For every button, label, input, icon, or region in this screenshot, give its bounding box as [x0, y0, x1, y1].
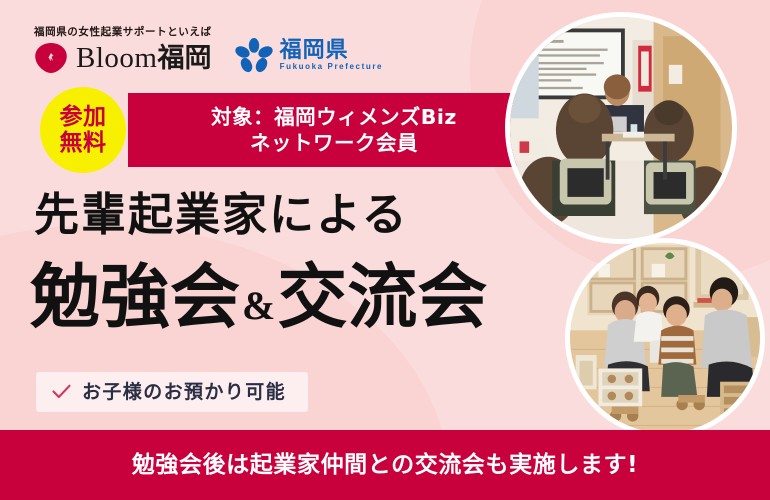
seminar-photo-illustration	[510, 17, 732, 239]
childcare-label: お子様のお預かり可能	[82, 383, 286, 402]
free-badge-line-1: 参加	[60, 105, 107, 129]
target-line-1: 対象：福岡ウィメンズBiz	[211, 104, 457, 130]
prefecture-name-jp: 福岡県	[280, 40, 349, 62]
headline-main: 勉強会 & 交流会	[30, 262, 487, 332]
footer-bar: 勉強会後は起業家仲間との交流会も実施します!	[0, 430, 770, 500]
free-badge-line-2: 無料	[60, 131, 107, 155]
target-line-2: ネットワーク会員	[211, 130, 457, 156]
target-audience-bar: 対象：福岡ウィメンズBiz ネットワーク会員	[128, 93, 540, 167]
prefecture-text: 福岡県 Fukuoka Prefecture	[280, 40, 384, 71]
fukuoka-flower-mark-icon	[234, 37, 274, 73]
headline-main-part-1: 勉強会	[30, 262, 240, 332]
target-audience-text: 対象：福岡ウィメンズBiz ネットワーク会員	[211, 104, 457, 156]
seminar-photo	[505, 12, 737, 244]
free-participation-badge: 参加 無料	[40, 87, 126, 173]
bloom-wordmark: Bloom福岡	[76, 44, 211, 73]
bloom-logo: 福岡県の女性起業サポートといえば Bloom福岡	[34, 24, 212, 74]
plum-blossom-icon	[34, 42, 68, 74]
headline-main-part-2: 交流会	[277, 262, 487, 332]
childcare-photo-illustration	[570, 243, 760, 433]
footer-message: 勉強会後は起業家仲間との交流会も実施します!	[132, 454, 638, 477]
logo-row: 福岡県の女性起業サポートといえば Bloom福岡	[34, 24, 383, 74]
childcare-photo	[565, 238, 765, 438]
event-banner: 福岡県の女性起業サポートといえば Bloom福岡	[0, 0, 770, 500]
bloom-tagline: 福岡県の女性起業サポートといえば	[34, 24, 212, 39]
fukuoka-prefecture-logo: 福岡県 Fukuoka Prefecture	[234, 37, 384, 74]
bloom-name-jp: 福岡	[157, 43, 211, 74]
headline-ampersand: &	[240, 286, 277, 326]
check-icon	[52, 384, 71, 400]
bloom-name-en: Bloom	[76, 42, 157, 74]
prefecture-name-en: Fukuoka Prefecture	[280, 63, 384, 71]
childcare-available-pill: お子様のお預かり可能	[36, 372, 308, 412]
bloom-mark-row: Bloom福岡	[34, 42, 212, 74]
headline-subtitle: 先輩起業家による	[34, 192, 409, 237]
